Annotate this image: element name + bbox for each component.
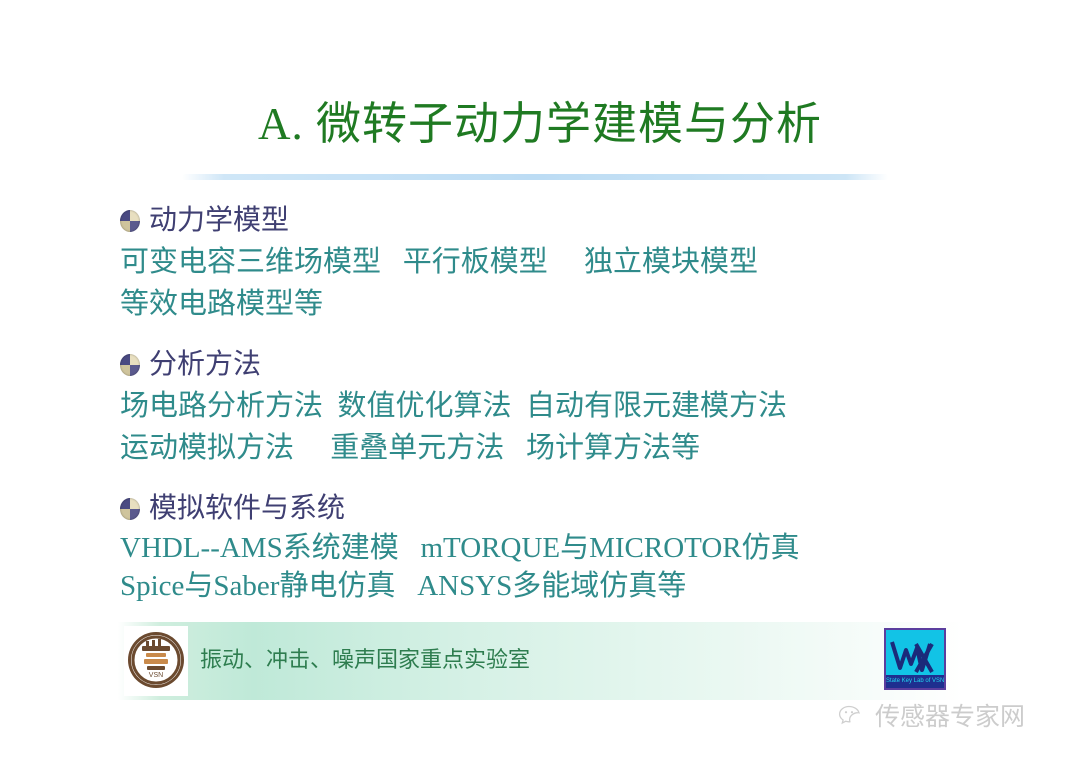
section-analysis-methods: 分析方法 场电路分析方法 数值优化算法 自动有限元建模方法 运动模拟方法 重叠单… bbox=[120, 347, 1000, 469]
lab-name-label: 振动、冲击、噪声国家重点实验室 bbox=[200, 645, 530, 675]
section-body-line: 场电路分析方法 数值优化算法 自动有限元建模方法 bbox=[120, 385, 1000, 427]
title-block: A. 微转子动力学建模与分析 bbox=[0, 96, 1080, 152]
quad-circle-bullet-icon bbox=[120, 210, 140, 232]
section-body-line: 运动模拟方法 重叠单元方法 场计算方法等 bbox=[120, 427, 1000, 469]
section-body-line: Spice与Saber静电仿真 ANSYS多能域仿真等 bbox=[120, 567, 1000, 605]
section-body-line: 等效电路模型等 bbox=[120, 283, 1000, 325]
section-body-line: VHDL--AMS系统建模 mTORQUE与MICROTOR仿真 bbox=[120, 529, 1000, 567]
content-body: 动力学模型 可变电容三维场模型 平行板模型 独立模块模型 等效电路模型等 分析方… bbox=[120, 203, 1000, 605]
watermark: 传感器专家网 bbox=[838, 703, 1025, 733]
section-body-line: 可变电容三维场模型 平行板模型 独立模块模型 bbox=[120, 241, 1000, 283]
section-heading-row: 分析方法 bbox=[120, 347, 1000, 383]
vax-waveform-logo-icon: State Key Lab of VSN bbox=[884, 628, 946, 690]
vax-logo-caption: State Key Lab of VSN bbox=[886, 675, 944, 688]
quad-circle-bullet-icon bbox=[120, 354, 140, 376]
section-heading-row: 模拟软件与系统 bbox=[120, 491, 1000, 527]
section-dynamics-model: 动力学模型 可变电容三维场模型 平行板模型 独立模块模型 等效电路模型等 bbox=[120, 203, 1000, 325]
presentation-slide: A. 微转子动力学建模与分析 动力学模型 可变电容三维场模型 平行板模型 独立模… bbox=[0, 0, 1080, 763]
title-divider-rule bbox=[182, 174, 888, 180]
section-heading-label: 动力学模型 bbox=[149, 204, 289, 238]
section-heading-label: 模拟软件与系统 bbox=[149, 492, 345, 526]
section-heading-row: 动力学模型 bbox=[120, 203, 1000, 239]
page-title: A. 微转子动力学建模与分析 bbox=[0, 96, 1080, 152]
quad-circle-bullet-icon bbox=[120, 498, 140, 520]
wechat-icon bbox=[838, 704, 868, 733]
watermark-label: 传感器专家网 bbox=[875, 703, 1025, 733]
section-heading-label: 分析方法 bbox=[149, 348, 261, 382]
section-simulation-software: 模拟软件与系统 VHDL--AMS系统建模 mTORQUE与MICROTOR仿真… bbox=[120, 491, 1000, 605]
svg-text:VSN: VSN bbox=[149, 672, 163, 679]
lab-emblem-logo-icon: VSN bbox=[124, 626, 188, 696]
